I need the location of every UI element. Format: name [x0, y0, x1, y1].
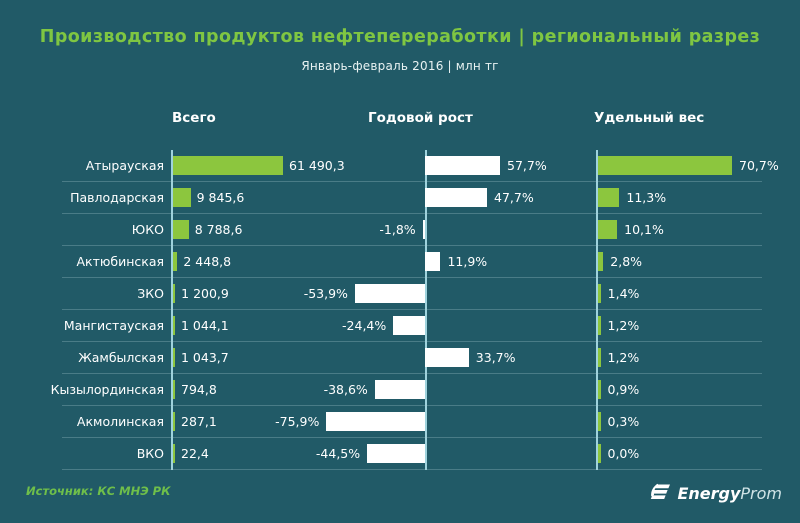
- share-bar: [598, 348, 601, 367]
- source-note: Источник: КС МНЭ РК: [26, 484, 171, 498]
- share-value: 70,7%: [739, 150, 779, 182]
- region-label: Актюбинская: [0, 246, 164, 278]
- page-subtitle: Январь-февраль 2016 | млн тг: [0, 59, 800, 73]
- total-bar: [173, 444, 175, 463]
- growth-value: -1,8%: [379, 214, 415, 246]
- growth-value: -38,6%: [324, 374, 368, 406]
- total-bar: [173, 284, 175, 303]
- growth-value: -24,4%: [342, 310, 386, 342]
- share-value: 2,8%: [610, 246, 642, 278]
- share-value: 10,1%: [624, 214, 664, 246]
- share-value: 1,2%: [608, 310, 640, 342]
- chart-row: Актюбинская2 448,811,9%2,8%: [0, 246, 800, 278]
- total-bar: [173, 380, 175, 399]
- share-bar: [598, 284, 601, 303]
- share-value: 0,0%: [608, 438, 640, 470]
- total-bar: [173, 188, 191, 207]
- growth-bar: [367, 444, 425, 463]
- total-value: 287,1: [181, 406, 217, 438]
- growth-value: -75,9%: [275, 406, 319, 438]
- total-value: 1 200,9: [181, 278, 229, 310]
- share-value: 0,9%: [608, 374, 640, 406]
- column-header-share: Удельный вес: [594, 110, 704, 126]
- column-header-growth: Годовой рост: [368, 110, 473, 126]
- growth-bar: [423, 220, 425, 239]
- chart-row: Кызылординская794,8-38,6%0,9%: [0, 374, 800, 406]
- growth-value: 57,7%: [507, 150, 547, 182]
- growth-value: -53,9%: [304, 278, 348, 310]
- growth-bar: [425, 348, 469, 367]
- growth-value: 47,7%: [494, 182, 534, 214]
- growth-value: 33,7%: [476, 342, 516, 374]
- share-bar: [598, 316, 601, 335]
- share-bar: [598, 412, 601, 431]
- total-value: 794,8: [181, 374, 217, 406]
- region-label: ЗКО: [0, 278, 164, 310]
- total-value: 22,4: [181, 438, 209, 470]
- energyprom-logo-icon: [650, 483, 672, 503]
- share-bar: [598, 220, 617, 239]
- share-value: 1,2%: [608, 342, 640, 374]
- total-value: 1 043,7: [181, 342, 229, 374]
- total-bar: [173, 156, 283, 175]
- column-header-total: Всего: [172, 110, 216, 126]
- chart-row: ЗКО1 200,9-53,9%1,4%: [0, 278, 800, 310]
- region-label: Жамбылская: [0, 342, 164, 374]
- chart-row: Павлодарская9 845,647,7%11,3%: [0, 182, 800, 214]
- growth-bar: [393, 316, 425, 335]
- page-title: Производство продуктов нефтепереработки …: [0, 27, 800, 47]
- share-value: 0,3%: [608, 406, 640, 438]
- logo-energy-text: Energy: [677, 484, 740, 503]
- share-bar: [598, 380, 601, 399]
- share-bar: [598, 444, 601, 463]
- share-bar: [598, 156, 732, 175]
- total-value: 2 448,8: [183, 246, 231, 278]
- chart-header: Производство продуктов нефтепереработки …: [0, 0, 800, 92]
- total-bar: [173, 316, 175, 335]
- chart-plot-area: Атырауская61 490,357,7%70,7%Павлодарская…: [0, 150, 800, 470]
- region-label: ЮКО: [0, 214, 164, 246]
- growth-value: -44,5%: [316, 438, 360, 470]
- energyprom-logo-text: EnergyProm: [677, 484, 782, 503]
- share-bar: [598, 252, 603, 271]
- share-value: 1,4%: [608, 278, 640, 310]
- total-bar: [173, 412, 175, 431]
- growth-bar: [355, 284, 425, 303]
- growth-value: 11,9%: [447, 246, 487, 278]
- chart-row: Акмолинская287,1-75,9%0,3%: [0, 406, 800, 438]
- total-bar: [173, 252, 177, 271]
- chart-row: ВКО22,4-44,5%0,0%: [0, 438, 800, 470]
- total-value: 61 490,3: [289, 150, 345, 182]
- region-label: Мангистауская: [0, 310, 164, 342]
- total-value: 1 044,1: [181, 310, 229, 342]
- growth-bar: [375, 380, 425, 399]
- total-value: 8 788,6: [195, 214, 243, 246]
- total-value: 9 845,6: [197, 182, 245, 214]
- growth-bar: [326, 412, 425, 431]
- energyprom-logo: EnergyProm: [650, 480, 782, 506]
- chart-row: Жамбылская1 043,733,7%1,2%: [0, 342, 800, 374]
- growth-bar: [425, 252, 440, 271]
- chart-row: ЮКО8 788,6-1,8%10,1%: [0, 214, 800, 246]
- share-bar: [598, 188, 619, 207]
- region-label: Кызылординская: [0, 374, 164, 406]
- share-value: 11,3%: [626, 182, 666, 214]
- growth-bar: [425, 188, 487, 207]
- growth-bar: [425, 156, 500, 175]
- total-bar: [173, 220, 189, 239]
- chart-footer: Источник: КС МНЭ РК EnergyProm: [0, 470, 800, 523]
- total-bar: [173, 348, 175, 367]
- region-label: ВКО: [0, 438, 164, 470]
- chart-row: Атырауская61 490,357,7%70,7%: [0, 150, 800, 182]
- logo-prom-text: Prom: [740, 484, 782, 503]
- region-label: Атырауская: [0, 150, 164, 182]
- chart-row: Мангистауская1 044,1-24,4%1,2%: [0, 310, 800, 342]
- region-label: Павлодарская: [0, 182, 164, 214]
- region-label: Акмолинская: [0, 406, 164, 438]
